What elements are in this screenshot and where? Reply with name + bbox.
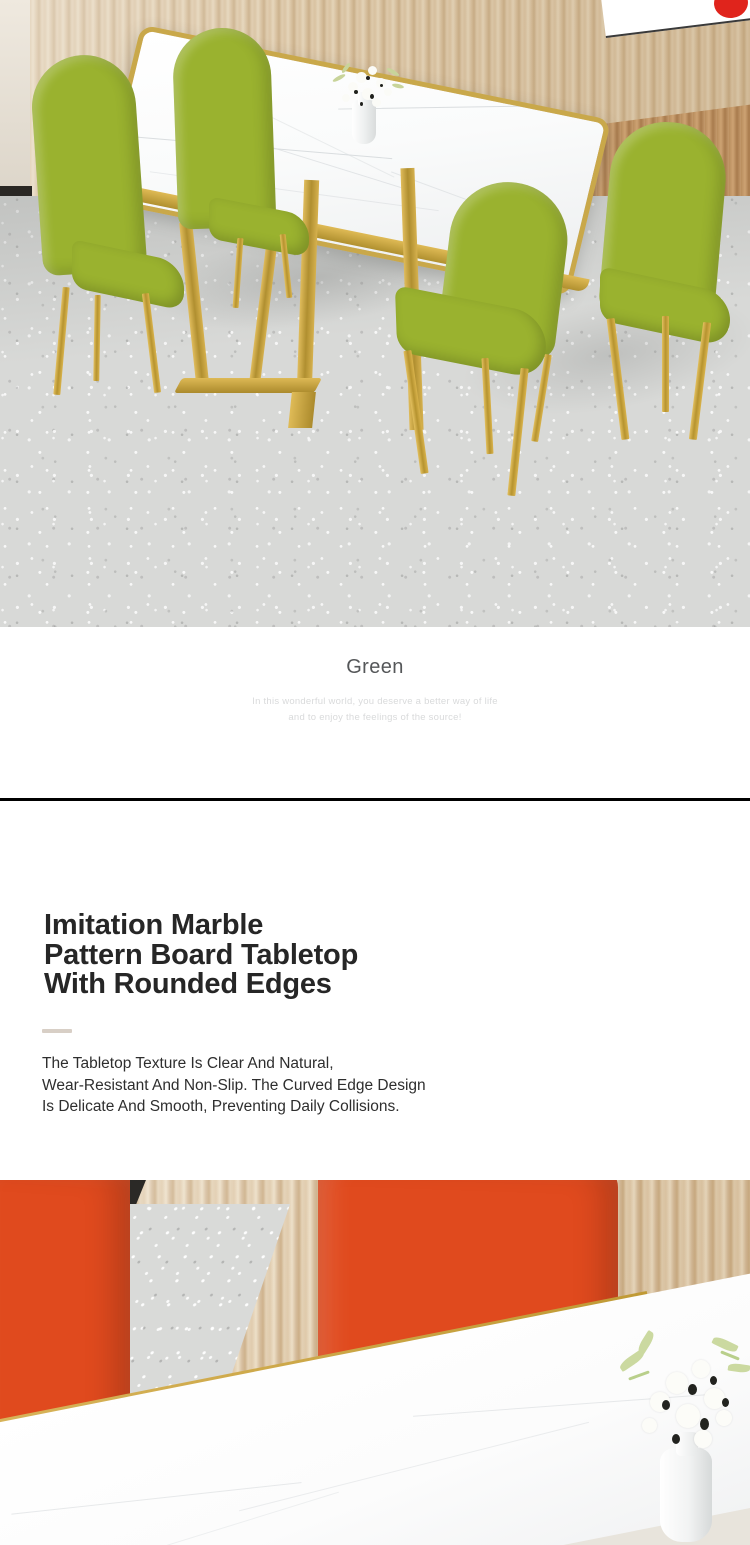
green-chair	[175, 28, 305, 278]
feature-body-line-1: The Tabletop Texture Is Clear And Natura…	[42, 1053, 542, 1075]
chair-leg	[481, 358, 493, 454]
subtitle-line-1: In this wonderful world, you deserve a b…	[252, 694, 498, 710]
feature-description-section: Imitation Marble Pattern Board Tabletop …	[0, 801, 750, 1180]
detail-product-photo[interactable]	[0, 1180, 750, 1545]
green-chair	[390, 182, 600, 472]
feature-heading-line-2: Pattern Board Tabletop	[44, 941, 564, 971]
table-base-foot	[174, 378, 322, 393]
chair-leg	[403, 350, 428, 474]
feature-body-line-2: Wear-Resistant And Non-Slip. The Curved …	[42, 1075, 542, 1097]
table-base-foot	[288, 392, 316, 428]
green-chair	[600, 122, 750, 422]
flower-bouquet	[612, 1330, 750, 1460]
white-vase	[660, 1448, 712, 1542]
product-detail-page: Green In this wonderful world, you deser…	[0, 0, 750, 1545]
wall-left-panel	[0, 0, 30, 190]
color-variant-subtitle: In this wonderful world, you deserve a b…	[252, 694, 498, 726]
color-variant-caption: Green In this wonderful world, you deser…	[0, 627, 750, 800]
green-chair	[30, 55, 170, 345]
chair-seat	[209, 196, 309, 257]
flower-bouquet	[326, 58, 410, 110]
feature-body-line-3: Is Delicate And Smooth, Preventing Daily…	[42, 1096, 542, 1118]
hero-product-photo[interactable]	[0, 0, 750, 627]
chair-leg	[662, 316, 669, 412]
subtitle-line-2: and to enjoy the feelings of the source!	[252, 710, 498, 726]
feature-heading-line-1: Imitation Marble	[44, 911, 564, 941]
accent-divider	[42, 1029, 72, 1033]
feature-heading-line-3: With Rounded Edges	[44, 970, 564, 1000]
chair-leg	[607, 318, 630, 440]
feature-heading: Imitation Marble Pattern Board Tabletop …	[44, 911, 564, 1000]
feature-body-text: The Tabletop Texture Is Clear And Natura…	[42, 1053, 542, 1118]
color-variant-title: Green	[346, 656, 404, 679]
